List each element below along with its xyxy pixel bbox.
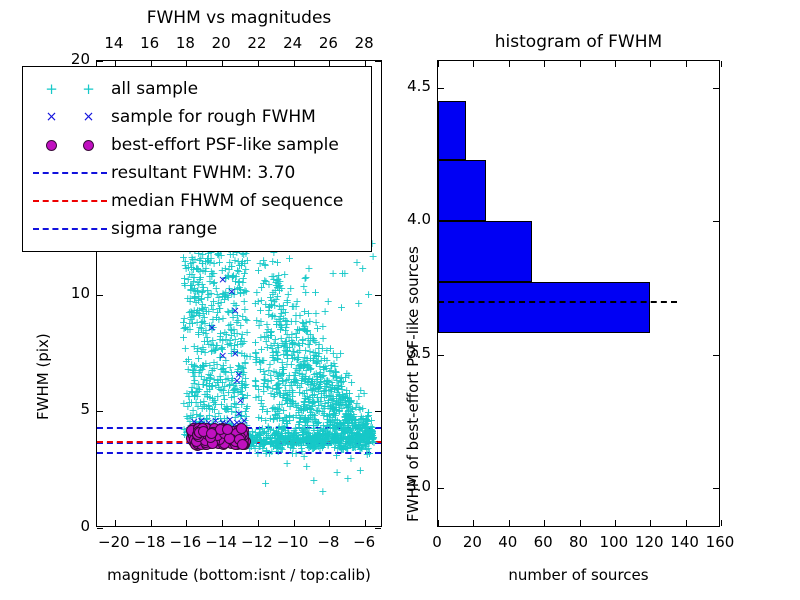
all-sample-point: + bbox=[241, 264, 250, 275]
left-panel-ylabel: FWHM (pix) bbox=[34, 333, 52, 420]
axis-tick bbox=[580, 61, 581, 67]
all-sample-point: + bbox=[259, 386, 268, 397]
axis-tick bbox=[329, 520, 330, 526]
all-sample-point: + bbox=[194, 291, 203, 302]
rough-fwhm-point: × bbox=[231, 305, 240, 316]
legend-item-label: sample for rough FWHM bbox=[107, 107, 316, 127]
all-sample-point: + bbox=[340, 268, 349, 279]
tick-label: −20 bbox=[96, 533, 132, 551]
plus-glyph: + bbox=[45, 82, 58, 97]
rough-fwhm-point: × bbox=[207, 322, 216, 333]
all-sample-point: + bbox=[343, 414, 352, 425]
dashed-line bbox=[33, 163, 107, 183]
tick-label: 28 bbox=[352, 34, 376, 52]
all-sample-point: + bbox=[304, 362, 313, 373]
axis-tick bbox=[713, 355, 719, 356]
all-sample-point: + bbox=[309, 475, 318, 486]
right-panel-title: histogram of FWHM bbox=[437, 32, 720, 52]
all-sample-point: + bbox=[280, 269, 289, 280]
legend-item: sigma range bbox=[33, 215, 361, 243]
line-sample bbox=[33, 200, 107, 202]
all-sample-point: + bbox=[193, 263, 202, 274]
all-sample-point: + bbox=[356, 465, 365, 476]
axis-tick bbox=[473, 520, 474, 526]
axis-tick bbox=[580, 520, 581, 526]
all-sample-point: + bbox=[215, 257, 224, 268]
all-sample-point: + bbox=[227, 261, 236, 272]
axis-tick bbox=[438, 520, 439, 526]
axis-tick bbox=[115, 520, 116, 526]
tick-label: 60 bbox=[525, 533, 561, 551]
all-sample-point: + bbox=[368, 422, 377, 433]
all-sample-point: + bbox=[202, 380, 211, 391]
rough-fwhm-point: × bbox=[227, 286, 236, 297]
all-sample-point: + bbox=[304, 437, 313, 448]
histogram-bar bbox=[438, 101, 466, 160]
all-sample-point: + bbox=[285, 253, 294, 264]
tick-label: −18 bbox=[132, 533, 168, 551]
all-sample-point: + bbox=[324, 437, 333, 448]
histogram-bar bbox=[438, 160, 486, 221]
tick-label: 160 bbox=[702, 533, 738, 551]
axis-tick bbox=[713, 88, 719, 89]
axis-tick bbox=[509, 61, 510, 67]
all-sample-point: + bbox=[333, 467, 342, 478]
axis-tick bbox=[97, 61, 103, 62]
all-sample-point: + bbox=[294, 438, 303, 449]
cross-marker: ×× bbox=[33, 107, 107, 127]
tick-label: 100 bbox=[596, 533, 632, 551]
axis-tick bbox=[97, 528, 103, 529]
axis-tick bbox=[615, 520, 616, 526]
all-sample-point: + bbox=[302, 461, 311, 472]
rough-fwhm-point: × bbox=[232, 375, 241, 386]
axis-tick bbox=[375, 411, 381, 412]
tick-label: 20 bbox=[454, 533, 490, 551]
all-sample-point: + bbox=[345, 388, 354, 399]
all-sample-point: + bbox=[301, 417, 310, 428]
right-panel-ylabel: FWHM of best-effort PSF-like sources bbox=[404, 246, 422, 522]
all-sample-point: + bbox=[300, 306, 309, 317]
all-sample-point: + bbox=[260, 275, 269, 286]
all-sample-point: + bbox=[282, 458, 291, 469]
tick-label: −6 bbox=[346, 533, 382, 551]
tick-label: 80 bbox=[561, 533, 597, 551]
left-panel-xlabel: magnitude (bottom:isnt / top:calib) bbox=[96, 566, 382, 584]
all-sample-point: + bbox=[358, 263, 367, 274]
tick-label: 4.5 bbox=[391, 77, 431, 95]
rough-fwhm-point: × bbox=[231, 348, 240, 359]
all-sample-point: + bbox=[336, 348, 345, 359]
plus-glyph: + bbox=[82, 82, 95, 97]
axis-tick bbox=[615, 61, 616, 67]
axis-tick bbox=[438, 488, 444, 489]
all-sample-point: + bbox=[314, 339, 323, 350]
all-sample-point: + bbox=[328, 268, 337, 279]
tick-label: 22 bbox=[245, 34, 269, 52]
all-sample-point: + bbox=[252, 352, 261, 363]
rough-fwhm-point: × bbox=[236, 395, 245, 406]
all-sample-point: + bbox=[216, 374, 225, 385]
tick-label: 18 bbox=[173, 34, 197, 52]
tick-label: −14 bbox=[203, 533, 239, 551]
all-sample-point: + bbox=[312, 374, 321, 385]
axis-tick bbox=[294, 520, 295, 526]
all-sample-point: + bbox=[306, 329, 315, 340]
all-sample-point: + bbox=[354, 298, 363, 309]
axis-tick bbox=[438, 355, 444, 356]
axis-tick bbox=[365, 520, 366, 526]
figure-canvas: FWHM vs magnitudes 1416182022242628 −20−… bbox=[0, 0, 800, 600]
all-sample-point: + bbox=[311, 287, 320, 298]
axis-tick bbox=[97, 295, 103, 296]
legend-item: ++all sample bbox=[33, 75, 361, 103]
legend-item: median FHWM of sequence bbox=[33, 187, 361, 215]
rough-fwhm-point: × bbox=[218, 350, 227, 361]
line-sample bbox=[33, 172, 107, 174]
all-sample-point: + bbox=[207, 288, 216, 299]
all-sample-point: + bbox=[272, 428, 281, 439]
all-sample-point: + bbox=[282, 390, 291, 401]
all-sample-point: + bbox=[311, 317, 320, 328]
all-sample-point: + bbox=[236, 320, 245, 331]
circle-marker bbox=[33, 135, 107, 155]
all-sample-point: + bbox=[273, 257, 282, 268]
axis-tick bbox=[375, 528, 381, 529]
tick-label: 140 bbox=[667, 533, 703, 551]
legend-item: best-effort PSF-like sample bbox=[33, 131, 361, 159]
axis-tick bbox=[438, 88, 444, 89]
tick-label: −8 bbox=[310, 533, 346, 551]
all-sample-point: + bbox=[185, 324, 194, 335]
axis-tick bbox=[438, 221, 444, 222]
legend-item: ××sample for rough FWHM bbox=[33, 103, 361, 131]
tick-label: −16 bbox=[167, 533, 203, 551]
left-panel-title: FWHM vs magnitudes bbox=[96, 8, 382, 28]
tick-label: 40 bbox=[490, 533, 526, 551]
axis-tick bbox=[686, 61, 687, 67]
all-sample-point: + bbox=[181, 343, 190, 354]
legend-box: ++all sample××sample for rough FWHMbest-… bbox=[22, 66, 372, 252]
all-sample-point: + bbox=[301, 272, 310, 283]
dashed-line bbox=[33, 191, 107, 211]
axis-tick bbox=[686, 520, 687, 526]
tick-label: 4.0 bbox=[391, 210, 431, 228]
axis-tick bbox=[97, 411, 103, 412]
line-sample bbox=[33, 228, 107, 230]
tick-label: 5 bbox=[50, 400, 90, 418]
all-sample-point: + bbox=[363, 449, 372, 460]
rough-fwhm-point: × bbox=[218, 274, 227, 285]
tick-label: 0 bbox=[419, 533, 455, 551]
tick-label: 26 bbox=[316, 34, 340, 52]
histogram-data-area bbox=[438, 61, 719, 526]
all-sample-point: + bbox=[209, 278, 218, 289]
tick-label: 120 bbox=[631, 533, 667, 551]
all-sample-point: + bbox=[356, 433, 365, 444]
plus-marker: ++ bbox=[33, 79, 107, 99]
all-sample-point: + bbox=[252, 287, 261, 298]
axis-tick bbox=[713, 221, 719, 222]
histogram-bar bbox=[438, 221, 532, 282]
legend-item: resultant FWHM: 3.70 bbox=[33, 159, 361, 187]
tick-label: −10 bbox=[275, 533, 311, 551]
axis-tick bbox=[650, 520, 651, 526]
histogram-bar bbox=[438, 282, 650, 333]
all-sample-point: + bbox=[344, 402, 353, 413]
axis-tick bbox=[650, 61, 651, 67]
tick-label: 14 bbox=[102, 34, 126, 52]
axis-tick bbox=[713, 488, 719, 489]
circle-glyph bbox=[46, 140, 57, 151]
tick-label: 16 bbox=[138, 34, 162, 52]
all-sample-point: + bbox=[282, 412, 291, 423]
histogram-axes bbox=[437, 60, 720, 527]
all-sample-point: + bbox=[193, 277, 202, 288]
all-sample-point: + bbox=[236, 336, 245, 347]
all-sample-point: + bbox=[256, 258, 265, 269]
axis-tick bbox=[438, 61, 439, 67]
all-sample-point: + bbox=[305, 346, 314, 357]
all-sample-point: + bbox=[343, 473, 352, 484]
axis-tick bbox=[721, 61, 722, 67]
all-sample-point: + bbox=[272, 380, 281, 391]
all-sample-point: + bbox=[283, 345, 292, 356]
legend-item-label: best-effort PSF-like sample bbox=[107, 135, 339, 155]
cross-glyph: × bbox=[83, 110, 95, 124]
axis-tick bbox=[258, 520, 259, 526]
tick-label: −12 bbox=[239, 533, 275, 551]
axis-tick bbox=[186, 520, 187, 526]
axis-tick bbox=[544, 61, 545, 67]
tick-label: 10 bbox=[50, 284, 90, 302]
axis-tick bbox=[375, 295, 381, 296]
all-sample-point: + bbox=[318, 486, 327, 497]
legend-item-label: median FHWM of sequence bbox=[107, 191, 343, 211]
all-sample-point: + bbox=[326, 343, 335, 354]
all-sample-point: + bbox=[368, 251, 377, 262]
tick-label: 20 bbox=[209, 34, 233, 52]
all-sample-point: + bbox=[364, 289, 373, 300]
all-sample-point: + bbox=[260, 438, 269, 449]
axis-tick bbox=[721, 520, 722, 526]
axis-tick bbox=[375, 61, 381, 62]
dashdot-line bbox=[33, 219, 107, 239]
all-sample-point: + bbox=[256, 305, 265, 316]
axis-tick bbox=[222, 520, 223, 526]
all-sample-point: + bbox=[297, 375, 306, 386]
all-sample-point: + bbox=[268, 403, 277, 414]
axis-tick bbox=[509, 520, 510, 526]
all-sample-point: + bbox=[293, 324, 302, 335]
legend-item-label: resultant FWHM: 3.70 bbox=[107, 163, 295, 183]
circle-glyph bbox=[83, 140, 94, 151]
all-sample-point: + bbox=[279, 300, 288, 311]
tick-label: 24 bbox=[281, 34, 305, 52]
hist-resultant-fwhm-line bbox=[438, 301, 677, 303]
tick-label: 0 bbox=[50, 517, 90, 535]
legend-item-label: sigma range bbox=[107, 219, 217, 239]
right-panel-xlabel: number of sources bbox=[437, 566, 720, 584]
axis-tick bbox=[151, 520, 152, 526]
psf-like-sample-point bbox=[222, 424, 233, 435]
all-sample-point: + bbox=[261, 478, 270, 489]
all-sample-point: + bbox=[197, 317, 206, 328]
all-sample-point: + bbox=[301, 287, 310, 298]
all-sample-point: + bbox=[330, 404, 339, 415]
all-sample-point: + bbox=[191, 387, 200, 398]
all-sample-point: + bbox=[332, 367, 341, 378]
cross-glyph: × bbox=[46, 110, 58, 124]
all-sample-point: + bbox=[268, 352, 277, 363]
all-sample-point: + bbox=[324, 296, 333, 307]
axis-tick bbox=[473, 61, 474, 67]
all-sample-point: + bbox=[292, 402, 301, 413]
all-sample-point: + bbox=[267, 326, 276, 337]
all-sample-point: + bbox=[326, 390, 335, 401]
all-sample-point: + bbox=[359, 388, 368, 399]
axis-tick bbox=[544, 520, 545, 526]
all-sample-point: + bbox=[337, 302, 346, 313]
legend-item-label: all sample bbox=[107, 79, 198, 99]
all-sample-point: + bbox=[259, 401, 268, 412]
all-sample-point: + bbox=[311, 414, 320, 425]
all-sample-point: + bbox=[270, 296, 279, 307]
all-sample-point: + bbox=[239, 287, 248, 298]
